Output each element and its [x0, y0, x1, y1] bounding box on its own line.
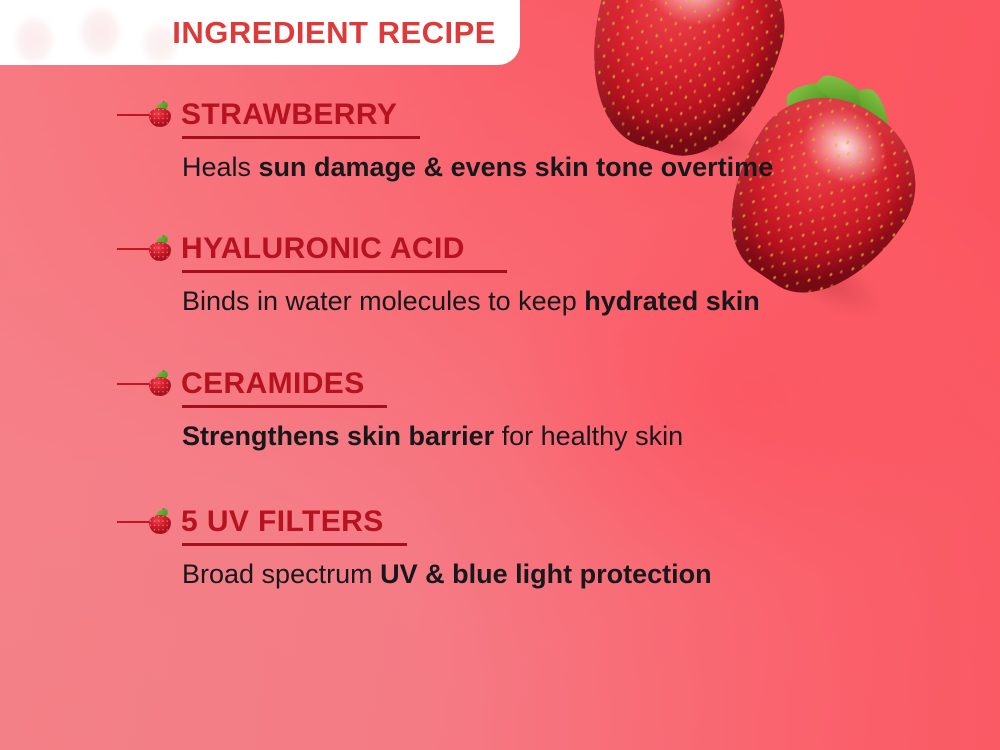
ingredient-description: Heals sun damage & evens skin tone overt… — [0, 149, 942, 186]
strawberry-seeds — [149, 108, 171, 127]
ingredient-description: Strengthens skin barrier for healthy ski… — [0, 418, 942, 455]
description-text: for healthy skin — [494, 421, 683, 451]
ingredient-recipe-poster: INGREDIENT RECIPE STRAWBERRYHeals sun da… — [0, 0, 1000, 750]
bullet-connector-line — [117, 521, 150, 523]
ingredient-title-underline — [182, 136, 420, 139]
description-emphasis: hydrated skin — [584, 286, 760, 316]
description-emphasis: UV & blue light protection — [380, 559, 712, 589]
description-emphasis: sun damage & evens skin tone overtime — [259, 152, 774, 182]
strawberry-seeds — [149, 515, 171, 534]
bullet-connector-line — [117, 114, 150, 116]
ingredient-title-underline — [182, 270, 507, 273]
ingredient-title-underline — [182, 405, 387, 408]
bullet-connector-line — [117, 383, 150, 385]
ingredient-description: Broad spectrum UV & blue light protectio… — [0, 556, 942, 593]
ingredient-title: 5 UV FILTERS — [181, 505, 384, 539]
strawberry-icon — [149, 237, 171, 261]
ingredient-list: STRAWBERRYHeals sun damage & evens skin … — [0, 96, 1000, 593]
header-banner: INGREDIENT RECIPE — [0, 0, 520, 65]
ingredient-title: HYALURONIC ACID — [181, 232, 465, 266]
description-text: Binds in water molecules to keep — [182, 286, 584, 316]
ingredient-item: STRAWBERRYHeals sun damage & evens skin … — [0, 96, 1000, 186]
strawberry-icon — [149, 372, 171, 396]
ingredient-title: CERAMIDES — [181, 367, 365, 401]
strawberry-icon — [149, 103, 171, 127]
strawberry-seeds — [149, 377, 171, 396]
description-emphasis: Strengthens skin barrier — [182, 421, 494, 451]
ingredient-title-underline — [182, 543, 407, 546]
bullet-connector-line — [117, 248, 150, 250]
ingredient-description: Binds in water molecules to keep hydrate… — [0, 283, 942, 320]
description-text: Heals — [182, 152, 259, 182]
ingredient-item: CERAMIDESStrengthens skin barrier for he… — [0, 365, 1000, 455]
ingredient-heading-row: CERAMIDES — [0, 365, 1000, 403]
strawberry-icon — [149, 510, 171, 534]
ingredient-item: HYALURONIC ACIDBinds in water molecules … — [0, 230, 1000, 320]
ingredient-heading-row: 5 UV FILTERS — [0, 503, 1000, 541]
description-text: Broad spectrum — [182, 559, 380, 589]
ingredient-title: STRAWBERRY — [181, 98, 397, 132]
ingredient-heading-row: HYALURONIC ACID — [0, 230, 1000, 268]
page-title: INGREDIENT RECIPE — [172, 15, 496, 51]
ingredient-heading-row: STRAWBERRY — [0, 96, 1000, 134]
ingredient-item: 5 UV FILTERSBroad spectrum UV & blue lig… — [0, 503, 1000, 593]
strawberry-seeds — [149, 242, 171, 261]
